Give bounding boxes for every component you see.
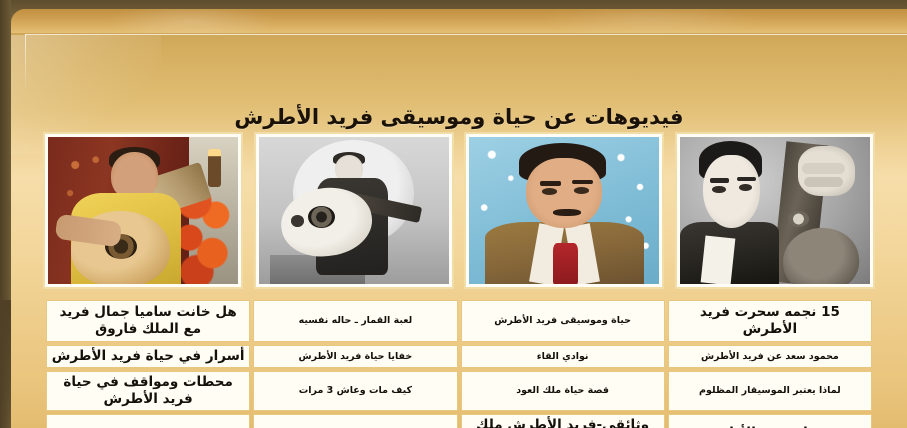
video-link-cell[interactable]: خفايا حياة فريد الأطرش bbox=[253, 345, 457, 368]
thumbnail-farid-color-oud[interactable] bbox=[43, 132, 243, 289]
video-link-cell-empty[interactable] bbox=[253, 414, 457, 428]
video-link-cell[interactable]: مشوار فريد الأطرش bbox=[668, 414, 872, 428]
content-panel: فيديوهات عن حياة وموسيقى فريد الأطرش bbox=[11, 9, 907, 428]
table-row: 15 نجمه سحرت فريد الأطرش حياة وموسيقى فر… bbox=[46, 300, 872, 342]
thumbnail-strip bbox=[43, 132, 875, 289]
video-link-cell[interactable]: كيف مات وعاش 3 مرات bbox=[253, 371, 457, 411]
thumbnail-image-3 bbox=[469, 137, 659, 284]
page-content: فيديوهات عن حياة وموسيقى فريد الأطرش bbox=[11, 9, 907, 428]
photo-farid-portrait-bw bbox=[680, 137, 870, 284]
thumbnail-farid-portrait-bw[interactable] bbox=[675, 132, 875, 289]
video-link-cell[interactable]: 15 نجمه سحرت فريد الأطرش bbox=[668, 300, 872, 342]
video-link-cell[interactable]: نوادي القاء bbox=[461, 345, 665, 368]
video-link-cell[interactable]: لعبة القمار ـ حاله نفسيه bbox=[253, 300, 457, 342]
thumbnail-farid-portrait-stars[interactable] bbox=[464, 132, 664, 289]
video-link-cell[interactable]: حياة وموسيقى فريد الأطرش bbox=[461, 300, 665, 342]
table-row: محمود سعد عن فريد الأطرش نوادي القاء خفا… bbox=[46, 345, 872, 368]
video-link-cell[interactable]: هل خانت ساميا جمال فريد مع الملك فاروق bbox=[46, 300, 250, 342]
photo-farid-color-oud bbox=[48, 137, 238, 284]
video-links-table: 15 نجمه سحرت فريد الأطرش حياة وموسيقى فر… bbox=[43, 297, 875, 428]
table-row: مشوار فريد الأطرش وثائقي-فريد الأطرش ملك… bbox=[46, 414, 872, 428]
photo-farid-portrait-stars bbox=[469, 137, 659, 284]
thumbnail-image-4 bbox=[680, 137, 870, 284]
video-link-cell-empty[interactable] bbox=[46, 414, 250, 428]
video-link-cell[interactable]: محطات ومواقف في حياة فريد الأطرش bbox=[46, 371, 250, 411]
photo-farid-young-oud-bw bbox=[259, 137, 449, 284]
thumbnail-farid-young-oud-bw[interactable] bbox=[254, 132, 454, 289]
video-link-cell[interactable]: قصة حياة ملك العود bbox=[461, 371, 665, 411]
page-root: فيديوهات عن حياة وموسيقى فريد الأطرش bbox=[0, 0, 907, 428]
thumbnail-image-2 bbox=[259, 137, 449, 284]
page-title: فيديوهات عن حياة وموسيقى فريد الأطرش bbox=[11, 105, 907, 129]
video-link-cell[interactable]: لماذا يعتبر الموسيقار المظلوم bbox=[668, 371, 872, 411]
video-link-cell[interactable]: محمود سعد عن فريد الأطرش bbox=[668, 345, 872, 368]
table-row: لماذا يعتبر الموسيقار المظلوم قصة حياة م… bbox=[46, 371, 872, 411]
thumbnail-image-1 bbox=[48, 137, 238, 284]
video-link-cell[interactable]: أسرار في حياة فريد الأطرش bbox=[46, 345, 250, 368]
video-link-cell[interactable]: وثائقي-فريد الأطرش ملك العود bbox=[461, 414, 665, 428]
window-chrome-left-fade bbox=[0, 300, 11, 428]
